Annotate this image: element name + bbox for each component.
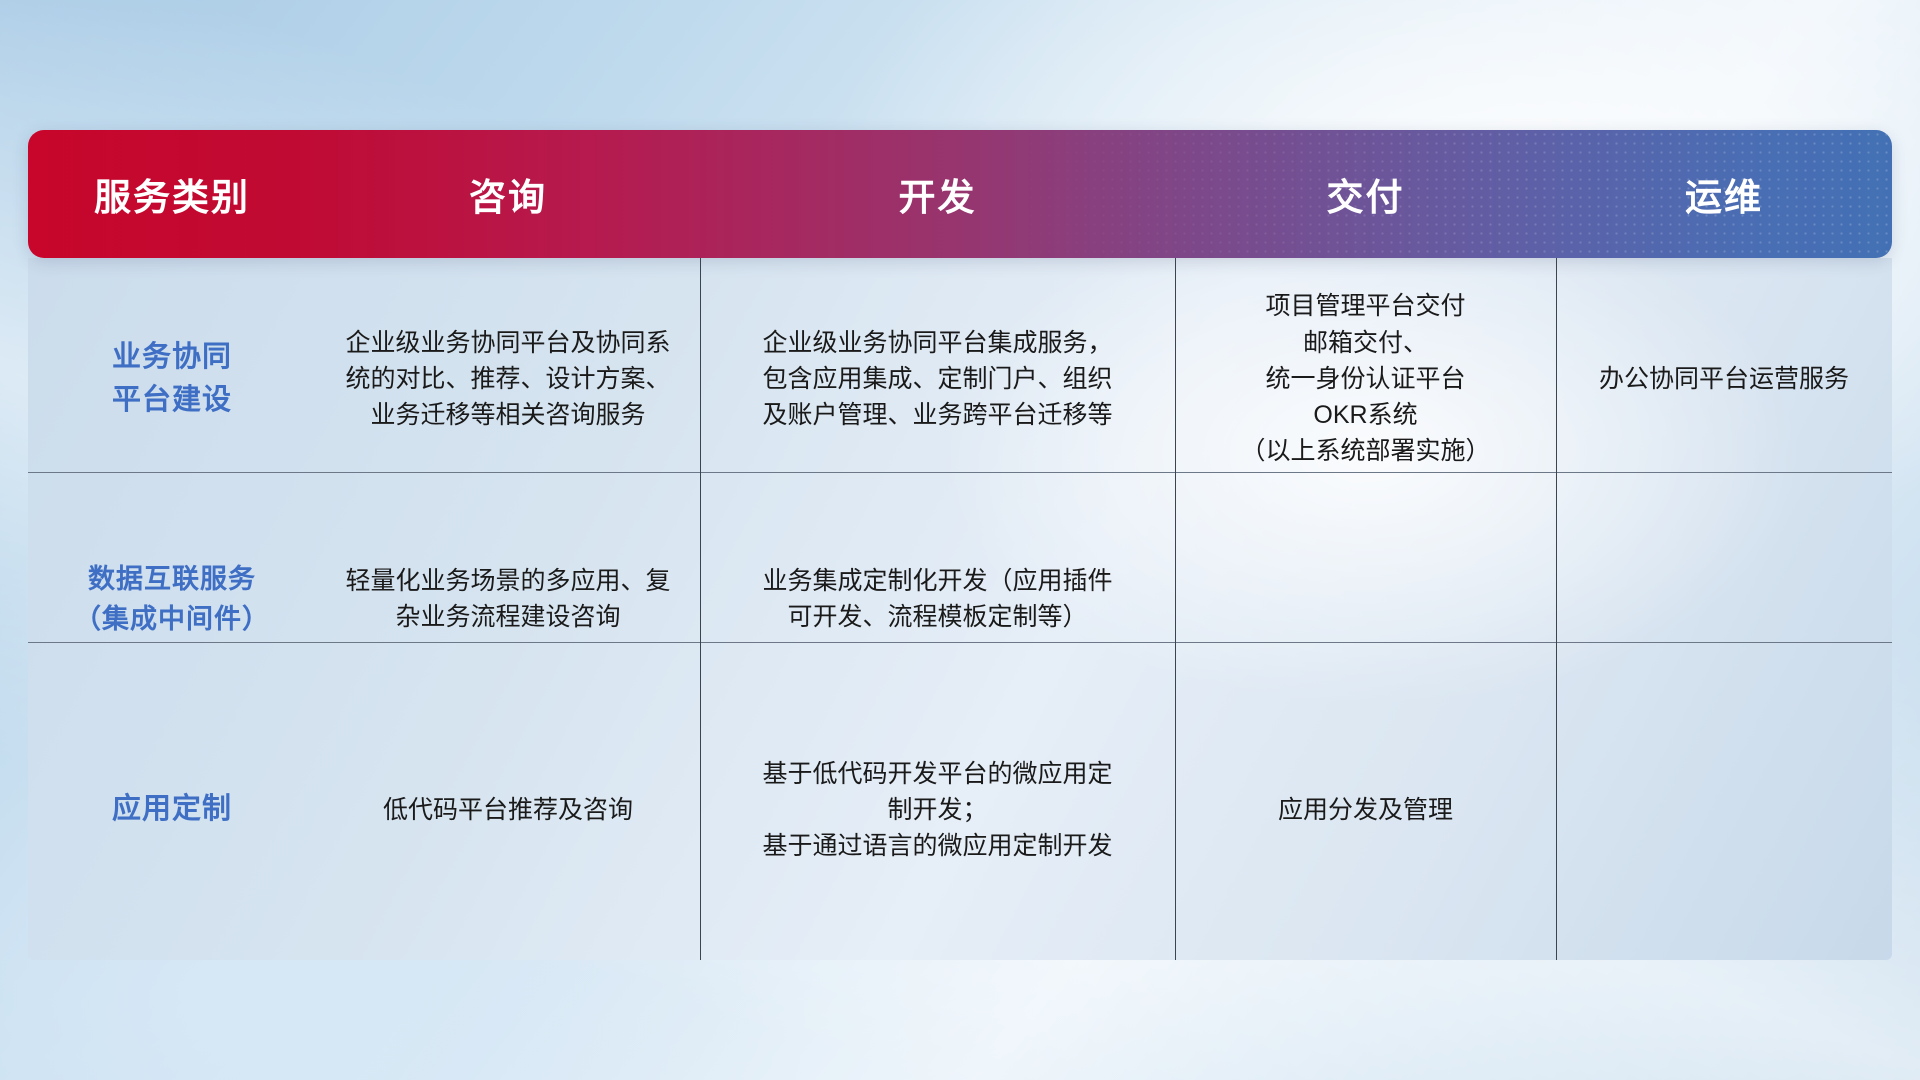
cell-text: 企业级业务协同平台集成服务， 包含应用集成、定制门户、组织 及账户管理、业务跨平… (718, 325, 1157, 434)
column-header-delivery[interactable]: 交付 (1175, 130, 1556, 258)
cell-development-row1: 企业级业务协同平台集成服务， 包含应用集成、定制门户、组织 及账户管理、业务跨平… (700, 258, 1175, 500)
cell-text: 轻量化业务场景的多应用、复 杂业务流程建设咨询 (334, 563, 682, 636)
slide-canvas: 服务类别 咨询 开发 交付 运维 业务协同 平台建设 企业级业务协同平台及协同系… (0, 0, 1920, 1080)
cell-text: 业务集成定制化开发（应用插件 可开发、流程模板定制等） (718, 563, 1157, 636)
cell-consulting-row1: 企业级业务协同平台及协同系 统的对比、推荐、设计方案、 业务迁移等相关咨询服务 (316, 258, 700, 500)
cell-development-row3: 基于低代码开发平台的微应用定 制开发； 基于通过语言的微应用定制开发 (700, 698, 1175, 922)
cell-text: 应用分发及管理 (1193, 792, 1538, 828)
cell-delivery-row1: 项目管理平台交付 邮箱交付、 统一身份认证平台 OKR系统 （以上系统部署实施） (1175, 258, 1556, 500)
cell-text: 基于低代码开发平台的微应用定 制开发； 基于通过语言的微应用定制开发 (718, 756, 1157, 865)
cell-category-row3: 应用定制 (28, 698, 316, 922)
table-row: 数据互联服务 （集成中间件） 轻量化业务场景的多应用、复 杂业务流程建设咨询 业… (28, 500, 1892, 698)
cell-delivery-row2 (1175, 500, 1556, 698)
table-row: 业务协同 平台建设 企业级业务协同平台及协同系 统的对比、推荐、设计方案、 业务… (28, 258, 1892, 500)
cell-category-row1: 业务协同 平台建设 (28, 258, 316, 500)
cell-development-row2: 业务集成定制化开发（应用插件 可开发、流程模板定制等） (700, 500, 1175, 698)
table-row: 应用定制 低代码平台推荐及咨询 基于低代码开发平台的微应用定 制开发； 基于通过… (28, 698, 1892, 922)
cell-category-row2: 数据互联服务 （集成中间件） (28, 500, 316, 698)
column-header-development[interactable]: 开发 (700, 130, 1175, 258)
matrix-grid: 服务类别 咨询 开发 交付 运维 业务协同 平台建设 企业级业务协同平台及协同系… (28, 130, 1892, 922)
cell-operations-row2 (1556, 500, 1892, 698)
cell-text: 应用定制 (46, 788, 298, 832)
cell-delivery-row3: 应用分发及管理 (1175, 698, 1556, 922)
column-header-service-category[interactable]: 服务类别 (28, 130, 316, 258)
cell-text: 项目管理平台交付 邮箱交付、 统一身份认证平台 OKR系统 （以上系统部署实施） (1193, 288, 1538, 469)
cell-text: 低代码平台推荐及咨询 (334, 792, 682, 828)
cell-operations-row1: 办公协同平台运营服务 (1556, 258, 1892, 500)
column-header-operations[interactable]: 运维 (1556, 130, 1892, 258)
column-header-consulting[interactable]: 咨询 (316, 130, 700, 258)
cell-text: 数据互联服务 （集成中间件） (46, 559, 298, 640)
cell-operations-row3 (1556, 698, 1892, 922)
cell-consulting-row3: 低代码平台推荐及咨询 (316, 698, 700, 922)
table-header-row: 服务类别 咨询 开发 交付 运维 (28, 130, 1892, 258)
cell-text: 办公协同平台运营服务 (1574, 361, 1874, 397)
cell-consulting-row2: 轻量化业务场景的多应用、复 杂业务流程建设咨询 (316, 500, 700, 698)
service-matrix-table: 服务类别 咨询 开发 交付 运维 业务协同 平台建设 企业级业务协同平台及协同系… (28, 130, 1892, 960)
cell-text: 业务协同 平台建设 (46, 336, 298, 423)
cell-text: 企业级业务协同平台及协同系 统的对比、推荐、设计方案、 业务迁移等相关咨询服务 (334, 325, 682, 434)
